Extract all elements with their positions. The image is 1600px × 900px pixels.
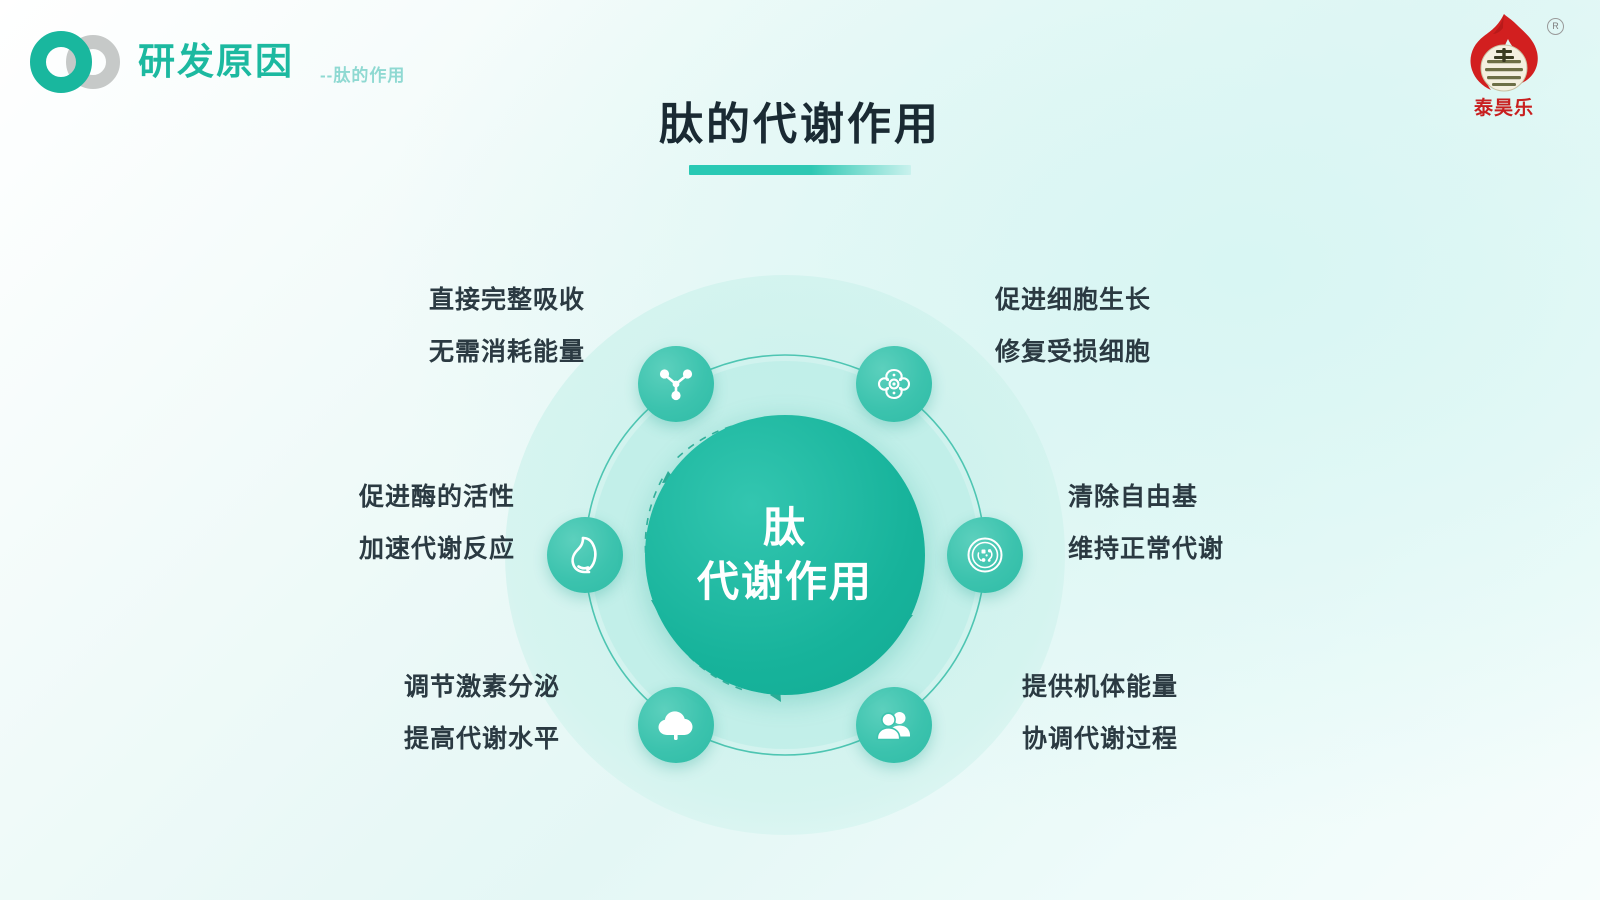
label-line: 加速代谢反应 <box>359 537 515 562</box>
inner-ring-arrowheads <box>651 465 913 702</box>
cycle-diagram <box>505 275 1065 835</box>
label-line: 协调代谢过程 <box>1022 727 1178 752</box>
cloud-upload-icon <box>655 706 697 744</box>
logo-ring-teal <box>30 31 92 93</box>
label-line: 提供机体能量 <box>1022 675 1178 700</box>
cell-flower-icon <box>873 363 915 405</box>
label-line: 直接完整吸收 <box>429 288 585 313</box>
two-overlapping-rings-logo-icon <box>28 31 124 91</box>
petri-dish-cell-icon <box>964 534 1006 576</box>
inner-dashed-ring <box>645 420 919 693</box>
label-group-bottom-right: 提供机体能量 协调代谢过程 <box>1022 675 1178 752</box>
registered-mark-icon: R <box>1547 18 1564 35</box>
users-group-icon <box>874 705 914 745</box>
label-line: 修复受损细胞 <box>995 340 1151 365</box>
header-subtitle: --肽的作用 <box>320 61 405 96</box>
node-molecule-network[interactable] <box>638 346 714 422</box>
title-block: 肽的代谢作用 <box>0 100 1600 175</box>
stomach-icon <box>566 534 604 576</box>
slide-canvas: 研发原因 --肽的作用 R 泰昊乐 肽的代谢作用 <box>0 0 1600 900</box>
node-cloud-upload[interactable] <box>638 687 714 763</box>
flame-emblem-icon <box>1448 12 1560 98</box>
node-cell-flower[interactable] <box>856 346 932 422</box>
label-line: 调节激素分泌 <box>404 675 560 700</box>
label-group-top-left: 直接完整吸收 无需消耗能量 <box>429 288 585 365</box>
label-group-top-right: 促进细胞生长 修复受损细胞 <box>995 288 1151 365</box>
label-group-middle-left: 促进酶的活性 加速代谢反应 <box>359 485 515 562</box>
label-line: 无需消耗能量 <box>429 340 585 365</box>
header-title: 研发原因 <box>138 43 294 80</box>
label-line: 促进酶的活性 <box>359 485 515 510</box>
slide-header: 研发原因 --肽的作用 <box>28 26 405 96</box>
label-group-bottom-left: 调节激素分泌 提高代谢水平 <box>404 675 560 752</box>
node-users-group[interactable] <box>856 687 932 763</box>
label-line: 促进细胞生长 <box>995 288 1151 313</box>
outer-solid-ring <box>585 355 985 755</box>
molecule-network-icon <box>656 364 696 404</box>
label-line: 清除自由基 <box>1068 485 1224 510</box>
label-group-middle-right: 清除自由基 维持正常代谢 <box>1068 485 1224 562</box>
title-underline <box>689 165 911 175</box>
page-title: 肽的代谢作用 <box>0 100 1600 151</box>
label-line: 提高代谢水平 <box>404 727 560 752</box>
label-line: 维持正常代谢 <box>1068 537 1224 562</box>
node-petri-dish-cell[interactable] <box>947 517 1023 593</box>
node-stomach[interactable] <box>547 517 623 593</box>
